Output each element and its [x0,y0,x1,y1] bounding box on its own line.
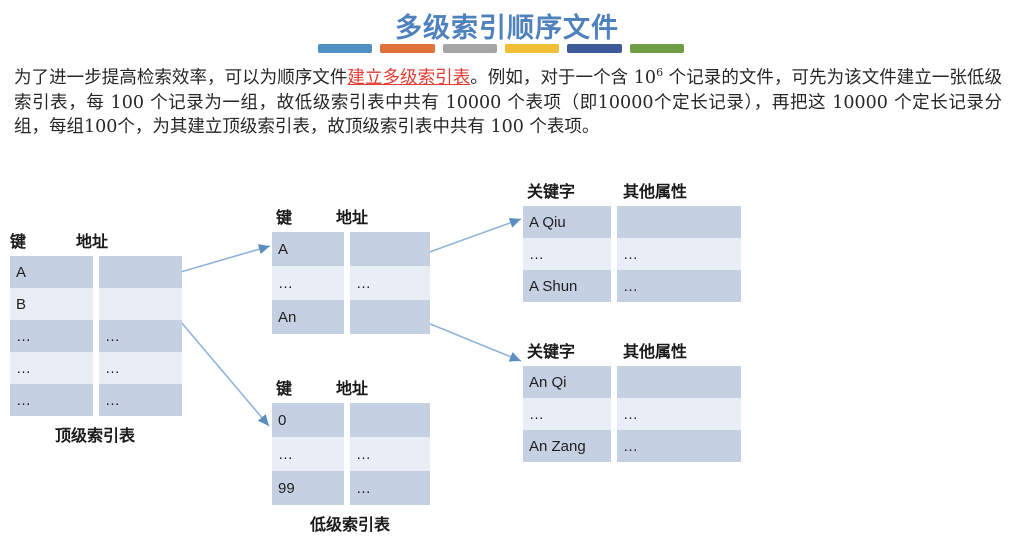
record-table-lower-header-1: 关键字 [527,338,575,362]
table-row: …… [10,384,182,416]
record-table-upper-body: A Qiu……A Shun… [523,206,741,302]
table-cell [350,232,430,266]
record-table-upper-header-2: 其他属性 [623,178,687,202]
table-cell [99,288,182,320]
table-row: …… [10,352,182,384]
table-low-level-index-lower: 键地址0……99…低级索引表 [272,375,430,535]
record-table-lower-body: An Qi……An Zang… [523,366,741,462]
table-row: …… [523,398,741,430]
low-level-index-table-lower-caption: 低级索引表 [272,505,428,535]
table-cell: An Zang [523,430,611,462]
table-cell [99,256,182,288]
table-row: B [10,288,182,320]
table-low-level-index-upper: 键地址A……An [272,204,430,334]
table-cell: … [272,266,344,300]
table-cell: … [10,352,93,384]
table-cell [617,206,741,238]
table-cell [350,300,430,334]
record-table-upper-header-1: 关键字 [527,178,575,202]
table-cell [350,403,430,437]
low-level-index-table-upper-header-2: 地址 [336,204,368,228]
table-record-upper: 关键字其他属性A Qiu……A Shun… [523,178,741,302]
table-row: …… [272,266,430,300]
table-cell: … [523,238,611,270]
low-level-index-table-lower-header-row: 键地址 [272,375,430,403]
table-row: 99… [272,471,430,505]
table-cell: A [272,232,344,266]
table-cell: … [350,266,430,300]
table-cell: … [617,270,741,302]
table-row: An Zang… [523,430,741,462]
table-row: A Shun… [523,270,741,302]
table-cell: … [272,437,344,471]
low-level-index-table-upper-header-row: 键地址 [272,204,430,232]
table-cell: … [617,238,741,270]
top-level-index-table-header-1: 键 [10,228,26,252]
table-cell [617,366,741,398]
table-cell: A [10,256,93,288]
table-cell: 0 [272,403,344,437]
table-row: A [272,232,430,266]
table-cell: An [272,300,344,334]
low-level-index-table-lower-header-2: 地址 [336,375,368,399]
table-cell: B [10,288,93,320]
table-row: 0 [272,403,430,437]
table-cell: 99 [272,471,344,505]
table-row: …… [272,437,430,471]
record-table-lower-header-row: 关键字其他属性 [523,338,741,366]
table-record-lower: 关键字其他属性An Qi……An Zang… [523,338,741,462]
top-level-index-table-header-2: 地址 [76,228,108,252]
table-cell: A Shun [523,270,611,302]
table-row: An [272,300,430,334]
table-cell: A Qiu [523,206,611,238]
table-cell: … [617,430,741,462]
table-top-level-index: 键地址AB………………顶级索引表 [10,228,182,446]
table-cell: An Qi [523,366,611,398]
arrow-mid1-to-record-lower [423,321,521,361]
table-row: A [10,256,182,288]
table-row: …… [523,238,741,270]
table-cell: … [10,384,93,416]
table-cell: … [350,471,430,505]
top-level-index-table-caption: 顶级索引表 [10,416,180,446]
low-level-index-table-lower-header-1: 键 [276,375,292,399]
table-row: …… [10,320,182,352]
low-level-index-table-lower-body: 0……99… [272,403,430,505]
top-level-index-table-header-row: 键地址 [10,228,182,256]
record-table-upper-header-row: 关键字其他属性 [523,178,741,206]
table-cell: … [10,320,93,352]
table-cell: … [523,398,611,430]
table-cell: … [617,398,741,430]
low-level-index-table-upper-header-1: 键 [276,204,292,228]
record-table-lower-header-2: 其他属性 [623,338,687,362]
table-cell: … [99,320,182,352]
table-cell: … [99,384,182,416]
top-level-index-table-body: AB……………… [10,256,182,416]
table-cell: … [99,352,182,384]
table-row: A Qiu [523,206,741,238]
arrow-mid1-to-record-upper [424,219,521,254]
table-cell: … [350,437,430,471]
table-row: An Qi [523,366,741,398]
low-level-index-table-upper-body: A……An [272,232,430,334]
